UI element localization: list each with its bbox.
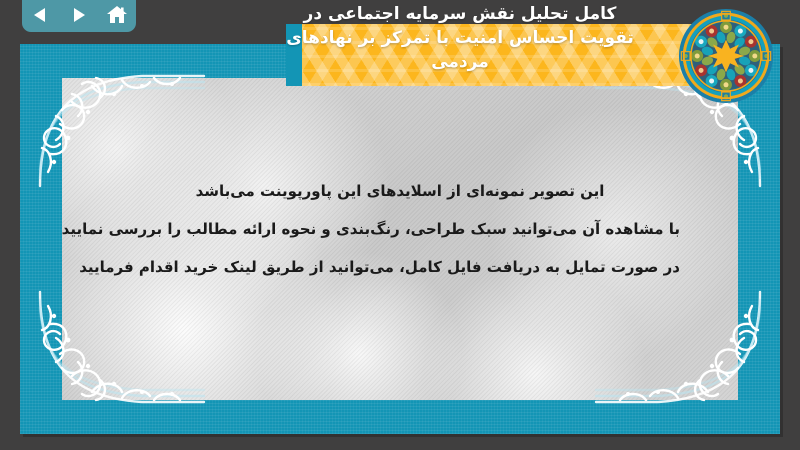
home-button[interactable] <box>104 3 130 27</box>
powerpoint-slide-viewer: این تصویر نمونه‌ای از اسلایدهای این پاور… <box>0 0 800 450</box>
banner-left-cap <box>286 24 302 86</box>
slide-canvas: این تصویر نمونه‌ای از اسلایدهای این پاور… <box>20 44 780 434</box>
mandala-medallion-icon <box>678 8 774 104</box>
slide-body-text: این تصویر نمونه‌ای از اسلایدهای این پاور… <box>120 172 680 286</box>
body-line-2: با مشاهده آن می‌توانید سبک طراحی، رنگ‌بن… <box>120 210 680 248</box>
body-line-3: در صورت تمایل به دریافت فایل کامل، می‌تو… <box>120 248 680 286</box>
previous-slide-button[interactable] <box>28 3 54 27</box>
next-slide-button[interactable] <box>66 3 92 27</box>
slide-navigation-bar <box>22 0 136 32</box>
body-line-1: این تصویر نمونه‌ای از اسلایدهای این پاور… <box>120 172 680 210</box>
